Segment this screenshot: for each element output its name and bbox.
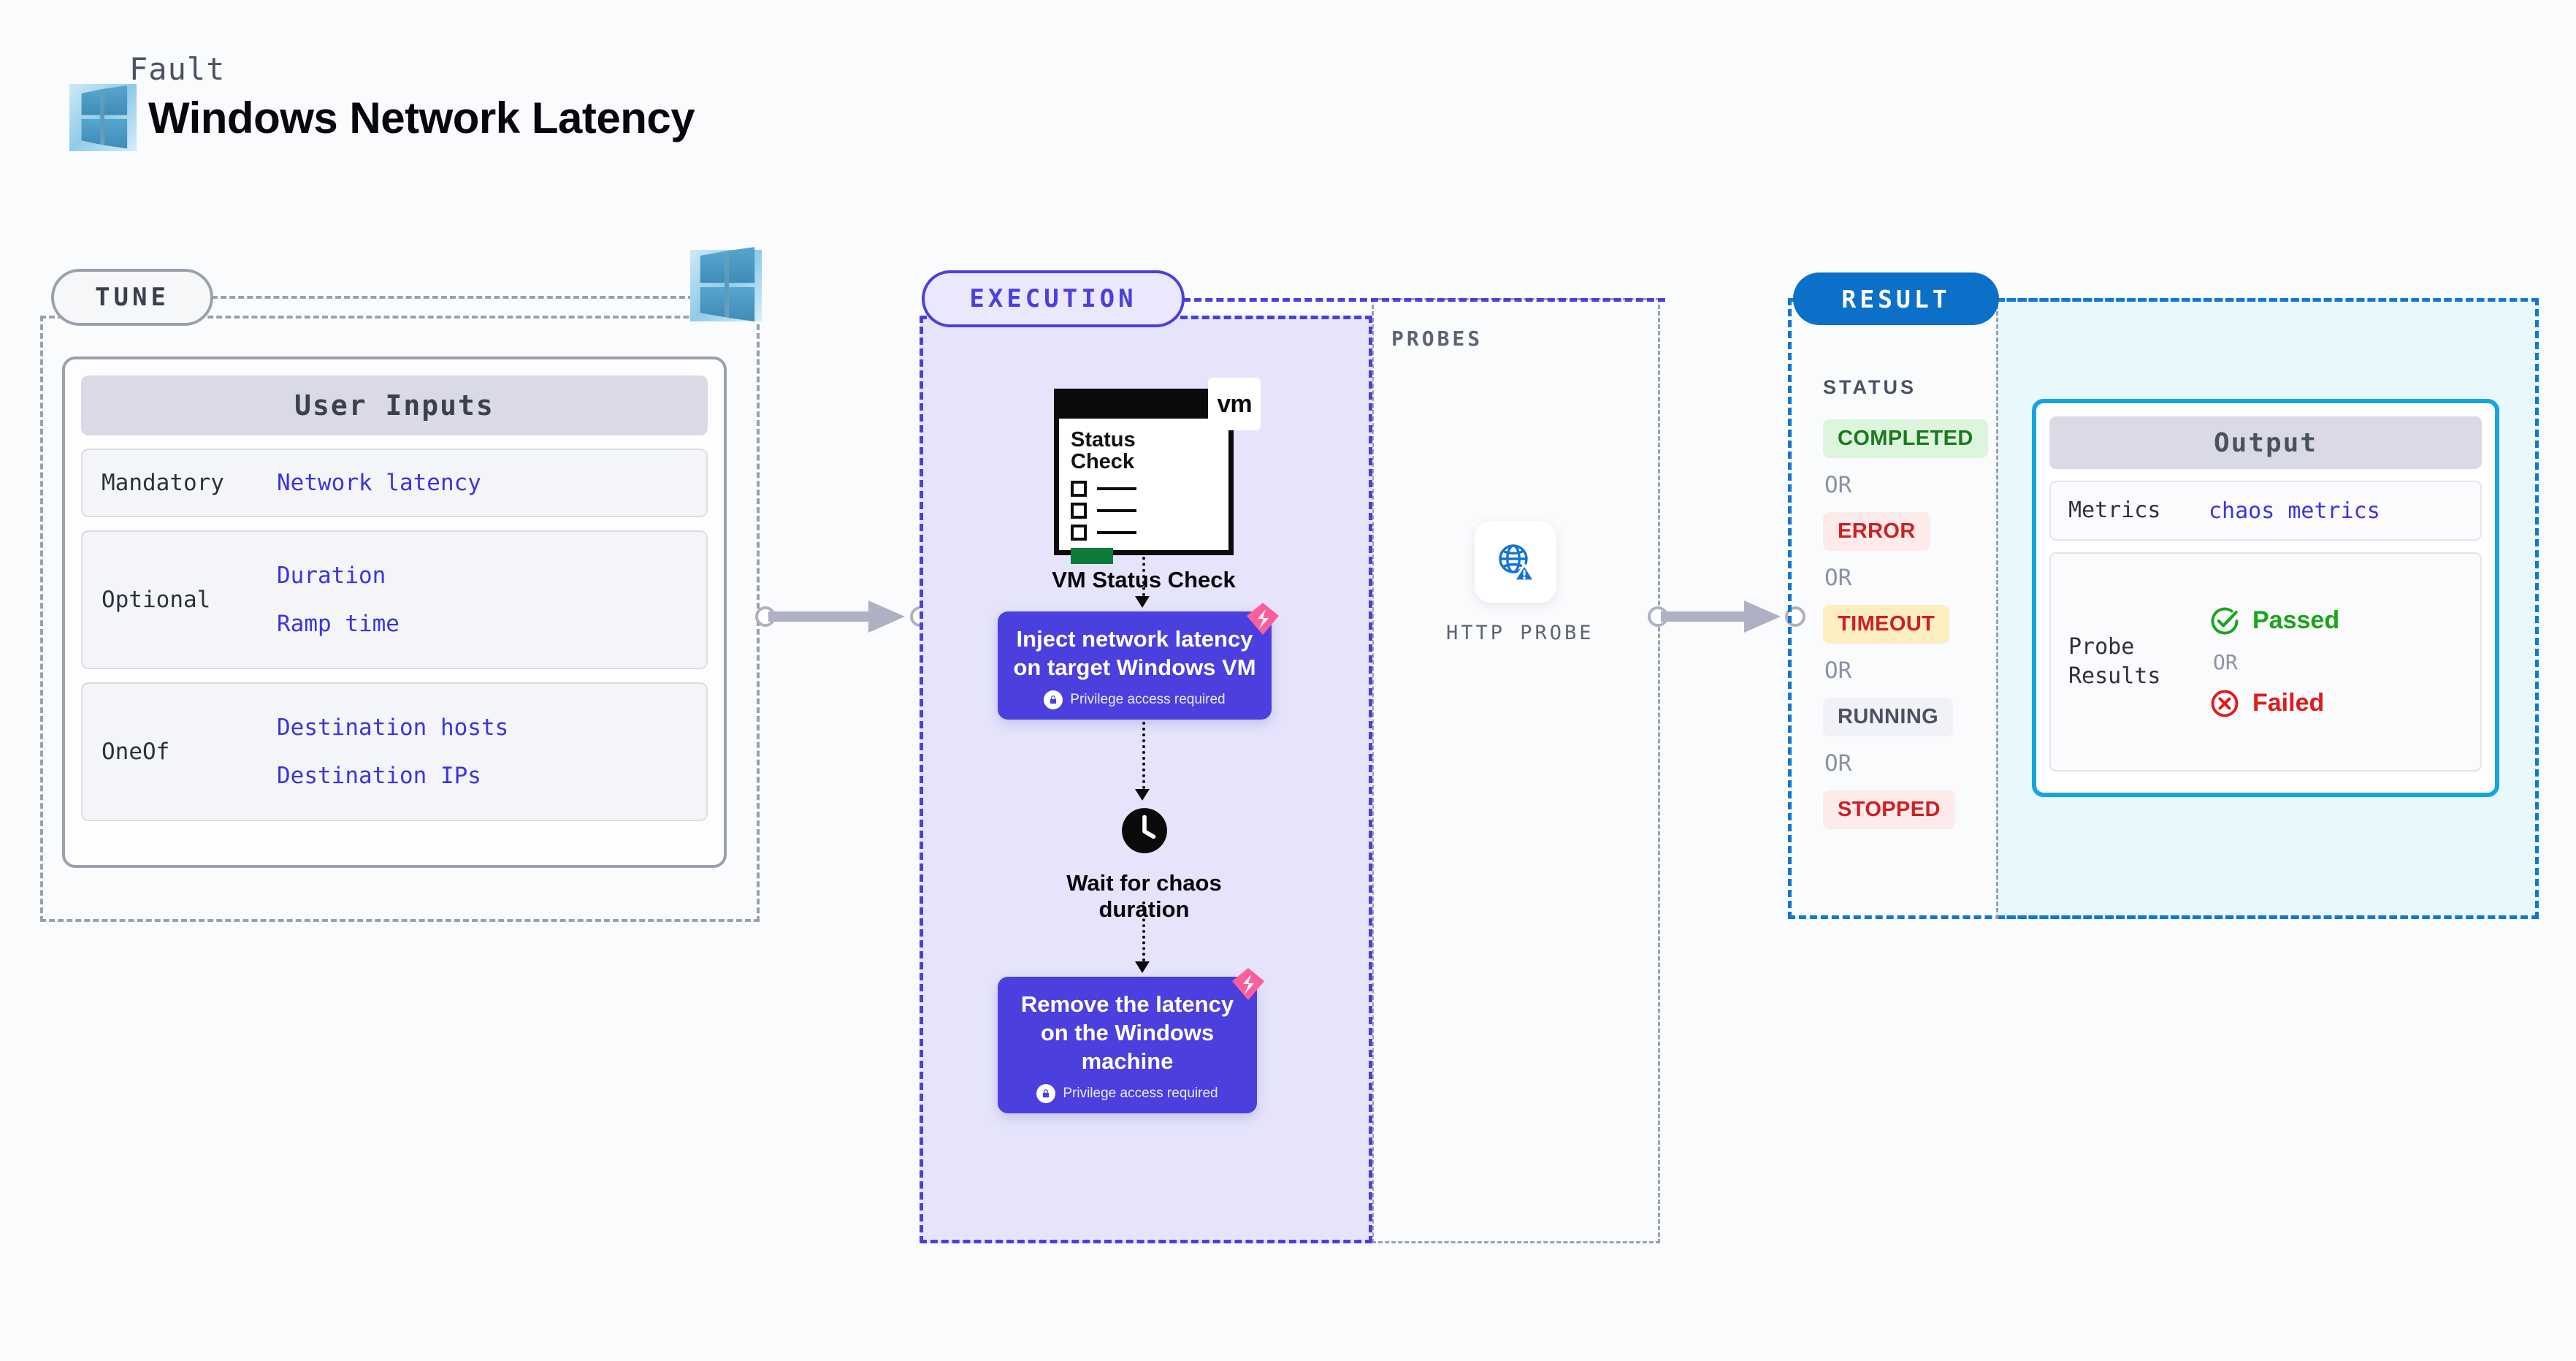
chaos-card-title: Remove the latency on the Windows machin… [1012,990,1242,1075]
input-row-optional[interactable]: Optional Duration Ramp time [81,530,708,669]
execution-top-dashed-line [1183,298,1665,302]
checkbox-icon [1071,525,1087,541]
status-badge-timeout: TIMEOUT [1823,605,1949,644]
windows-logo-icon [690,241,762,330]
list-line [1097,531,1136,534]
result-top-dashed-line [1998,298,2539,302]
privilege-note-text: Privilege access required [1063,1086,1218,1102]
lock-icon [1044,690,1063,709]
connector-bar [768,611,885,622]
vm-window-titlebar [1059,394,1228,419]
result-column-divider [1996,298,1998,919]
check-circle-icon [2209,605,2241,637]
page-header: Fault Windows Network Latency [69,51,695,151]
connector-arrowhead [1744,601,1781,633]
chaos-badge-icon [1229,965,1267,1003]
input-row-values: Destination hosts Destination IPs [277,714,508,789]
privilege-note-text: Privilege access required [1070,692,1225,708]
flow-arrow-head [1135,961,1150,973]
probe-failed-label: Failed [2252,689,2324,717]
output-row-key: Probe Results [2068,633,2209,690]
input-row-key: OneOf [102,739,277,765]
user-inputs-title: User Inputs [81,375,708,435]
output-card: Output Metrics chaos metrics Probe Resul… [2032,399,2499,797]
flow-arrow-line [1142,551,1145,596]
user-inputs-card: User Inputs Mandatory Network latency Op… [62,357,727,868]
status-or-label: OR [1824,472,1985,498]
node-remove-latency[interactable]: Remove the latency on the Windows machin… [998,977,1257,1113]
status-badge-running: RUNNING [1823,698,1953,736]
tune-top-dashed-line [212,296,694,299]
output-title: Output [2049,416,2482,469]
node-inject-network-latency[interactable]: Inject network latency on target Windows… [998,611,1272,720]
diagram-canvas: Fault Windows Network Latency [0,0,2576,1361]
status-badge-completed: COMPLETED [1823,419,1988,458]
tune-section-label: TUNE [51,269,213,326]
status-heading: STATUS [1823,376,1985,399]
flow-arrow-head [1135,596,1150,608]
lock-icon [1036,1084,1055,1103]
input-value[interactable]: Destination hosts [277,714,508,741]
vm-checklist [1071,481,1228,541]
probe-item-http[interactable]: HTTP PROBE [1446,521,1585,644]
probes-section-label: PROBES [1391,327,1483,351]
x-circle-icon [2209,687,2241,720]
probe-result-failed: Failed [2209,687,2463,720]
probe-passed-label: Passed [2252,606,2339,635]
probe-or-label: OR [2213,650,2463,674]
flow-arrow-line [1142,722,1145,789]
flow-arrow-line [1142,901,1145,961]
input-row-mandatory[interactable]: Mandatory Network latency [81,449,708,517]
list-line [1097,487,1136,490]
input-row-key: Optional [102,587,277,613]
input-value[interactable]: Network latency [277,470,481,496]
status-badge-stopped: STOPPED [1823,790,1955,829]
globe-warning-icon [1492,538,1539,585]
input-row-values: Network latency [277,470,481,496]
output-row-metrics[interactable]: Metrics chaos metrics [2049,481,2482,541]
probes-section-box [1372,298,1660,1243]
connector-tune-to-execution [755,602,938,631]
metrics-value[interactable]: chaos metrics [2209,498,2380,524]
flow-arrow-head [1135,789,1150,801]
windows-logo-icon [69,84,137,151]
clock-icon [1120,807,1169,855]
input-row-key: Mandatory [102,470,277,496]
result-section-label: RESULT [1793,272,1999,325]
input-value[interactable]: Ramp time [277,611,400,637]
chaos-card-title: Inject network latency on target Windows… [1012,625,1257,682]
probe-icon-tile [1475,521,1556,603]
vm-window-title-line-2: Check [1071,451,1228,473]
list-line [1097,509,1136,512]
connector-arrowhead [868,601,905,633]
status-or-label: OR [1824,565,1985,591]
vm-status-window-icon: Status Check vm [1054,389,1234,555]
input-value[interactable]: Duration [277,563,400,589]
probe-result-passed: Passed [2209,605,2463,637]
status-badge-error: ERROR [1823,512,1930,551]
privilege-note-row: Privilege access required [1012,690,1257,709]
output-row-probe-results: Probe Results Passed OR Failed [2049,552,2482,771]
input-row-values: Duration Ramp time [277,563,400,637]
vm-window-title-line-1: Status [1071,429,1228,451]
checkbox-icon [1071,503,1087,519]
output-row-key: Metrics [2068,496,2209,525]
result-status-column: STATUS COMPLETED OR ERROR OR TIMEOUT OR … [1823,376,1985,829]
checkbox-icon [1071,481,1087,497]
privilege-note-row: Privilege access required [1012,1084,1242,1103]
status-or-label: OR [1824,657,1985,684]
input-row-oneof[interactable]: OneOf Destination hosts Destination IPs [81,682,708,821]
page-title: Windows Network Latency [148,93,695,143]
input-value[interactable]: Destination IPs [277,763,508,789]
fault-kicker: Fault [129,51,695,87]
status-bar-green [1071,548,1113,564]
execution-section-label: EXECUTION [922,270,1185,327]
status-or-label: OR [1824,750,1985,777]
vm-badge: vm [1208,378,1261,430]
probe-caption: HTTP PROBE [1446,622,1585,644]
execution-flow: Status Check vm VM Status Check Inject n… [920,316,1372,1243]
chaos-badge-icon [1244,600,1282,638]
